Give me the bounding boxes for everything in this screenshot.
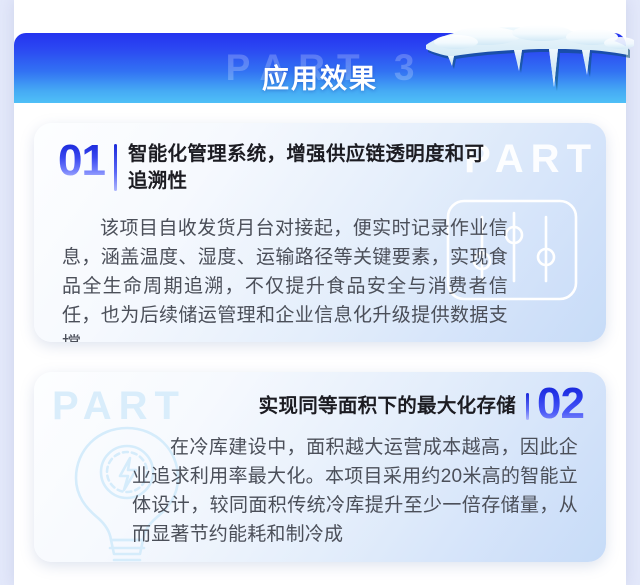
section-header: PART 3 应用效果 xyxy=(14,33,626,103)
content-card-2: PART 实现同等面积下的最大化存储 02 在冷库建设中，面积越大运营成本越高，… xyxy=(34,372,606,562)
card-2-heading: 实现同等面积下的最大化存储 02 xyxy=(259,384,584,424)
page-title-text: 应用效果 xyxy=(262,57,378,96)
card-title: 智能化管理系统，增强供应链透明度和可追溯性 xyxy=(128,141,488,195)
card-body-text: 该项目自收发货月台对接起，便实时记录作业信息，涵盖温度、湿度、运输路径等关键要素… xyxy=(62,215,508,342)
page-title: 应用效果 xyxy=(14,33,626,103)
card-number: 01 xyxy=(58,141,105,181)
content-card-1: PART 01 智能化管理系统，增强供应链透明度和可追溯性 该项目自收发货月台对… xyxy=(34,123,606,342)
card-watermark-text: PART xyxy=(52,384,186,429)
card-1-heading: 01 智能化管理系统，增强供应链透明度和可追溯性 xyxy=(58,141,488,195)
card-body-text: 在冷库建设中，面积越大运营成本越高，因此企业追求利用率最大化。本项目采用约20米… xyxy=(132,434,578,550)
card-number: 02 xyxy=(537,384,584,424)
number-divider-bar xyxy=(114,144,117,191)
number-divider-bar xyxy=(526,393,529,420)
header-band: PART 3 应用效果 xyxy=(14,33,626,103)
card-title: 实现同等面积下的最大化存储 xyxy=(259,384,516,420)
